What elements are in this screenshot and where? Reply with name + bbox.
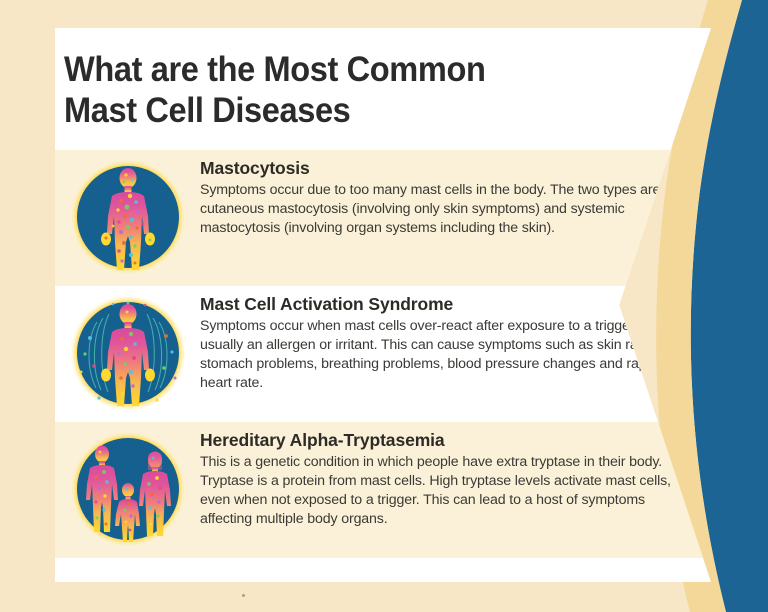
page-title-line-2: Mast Cell Diseases [64, 91, 350, 130]
infographic-poster: What are the Most Common Mast Cell Disea… [0, 0, 768, 612]
section-row-mastocytosis: Mastocytosis Symptoms occur due to too m… [55, 150, 711, 286]
poster-header: What are the Most Common Mast Cell Disea… [55, 28, 711, 150]
body-with-aura-reaction-icon [69, 294, 187, 412]
section-row-mast-cell-activation-syndrome: Mast Cell Activation Syndrome Symptoms o… [55, 286, 711, 422]
section-title-mastocytosis: Mastocytosis [200, 158, 683, 179]
page-title-line-1: What are the Most Common [64, 50, 485, 89]
section-body-mastocytosis: Symptoms occur due to too many mast cell… [200, 181, 683, 238]
text-cell: Mastocytosis Symptoms occur due to too m… [200, 150, 711, 244]
icon-cell [55, 422, 200, 548]
text-cell: Mast Cell Activation Syndrome Symptoms o… [200, 286, 711, 399]
family-three-figures-icon [69, 430, 187, 548]
icon-cell [55, 286, 200, 412]
section-title-mcas: Mast Cell Activation Syndrome [200, 294, 683, 315]
text-cell: Hereditary Alpha-Tryptasemia This is a g… [200, 422, 711, 535]
teal-wedge-shape [691, 0, 768, 612]
section-row-hereditary-alpha-tryptasemia: Hereditary Alpha-Tryptasemia This is a g… [55, 422, 711, 558]
section-body-hat: This is a genetic condition in which peo… [200, 453, 683, 529]
single-body-mast-cells-icon [69, 158, 187, 276]
stray-dot-artifact [242, 594, 245, 597]
content-card: What are the Most Common Mast Cell Disea… [55, 28, 711, 582]
page-title: What are the Most Common Mast Cell Disea… [64, 50, 622, 131]
section-body-mcas: Symptoms occur when mast cells over-reac… [200, 317, 683, 393]
section-title-hat: Hereditary Alpha-Tryptasemia [200, 430, 683, 451]
icon-cell [55, 150, 200, 276]
